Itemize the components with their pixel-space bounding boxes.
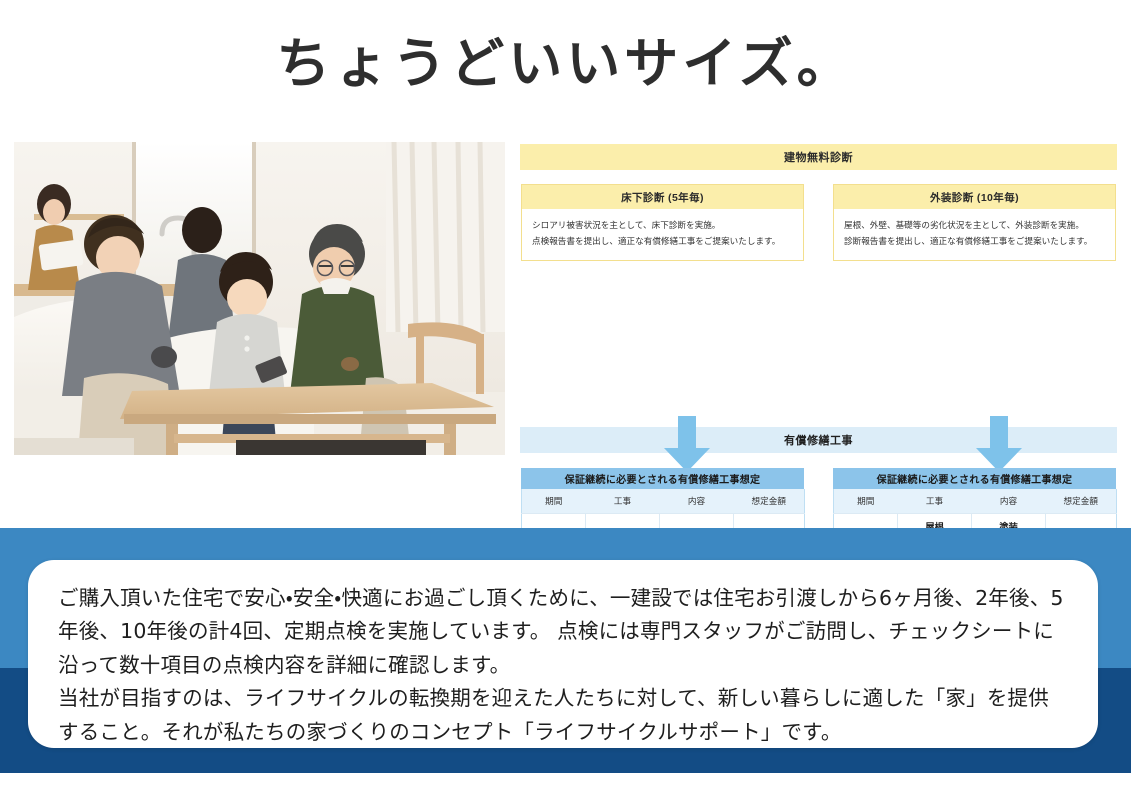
col-work: 工事 xyxy=(898,489,972,514)
col-work: 工事 xyxy=(586,489,660,514)
page-title: ちょうどいいサイズ。 xyxy=(0,32,1131,97)
floor-inspection-line-2: 点検報告書を提出し、適正な有償修繕工事をご提案いたします。 xyxy=(532,234,793,250)
col-period: 期間 xyxy=(522,489,586,514)
band-white-bottom xyxy=(0,773,1131,800)
exterior-inspection-line-2: 診断報告書を提出し、適正な有償修繕工事をご提案いたします。 xyxy=(844,234,1105,250)
col-amount: 想定金額 xyxy=(734,489,805,514)
estimate-table-left-header: 保証継続に必要とされる有償修繕工事想定 xyxy=(521,468,804,489)
down-arrow-icon-left xyxy=(664,416,710,472)
lifecycle-support-text: ご購入頂いた住宅で安心・安全・快適にお過ごし頂くために、一建設では住宅お引渡しか… xyxy=(58,582,1068,749)
table-header-row: 期間 工事 内容 想定金額 xyxy=(522,489,805,514)
estimate-table-right-header: 保証継続に必要とされる有償修繕工事想定 xyxy=(833,468,1116,489)
floor-inspection-header: 床下診断 (5年毎) xyxy=(522,185,803,209)
col-detail: 内容 xyxy=(972,489,1046,514)
diagram-top-band: 建物無料診断 xyxy=(520,144,1117,170)
exterior-inspection-line-1: 屋根、外壁、基礎等の劣化状況を主として、外装診断を実施。 xyxy=(844,218,1105,234)
lifecycle-support-card: ご購入頂いた住宅で安心・安全・快適にお過ごし頂くために、一建設では住宅お引渡しか… xyxy=(28,560,1098,748)
exterior-inspection-box: 外装診断 (10年毎) 屋根、外壁、基礎等の劣化状況を主として、外装診断を実施。… xyxy=(833,184,1116,261)
col-period: 期間 xyxy=(834,489,898,514)
family-living-room-photo xyxy=(14,142,505,455)
diagram-middle-band: 有償修繕工事 xyxy=(520,427,1117,453)
diagram-column-floor-inspection: 床下診断 (5年毎) シロアリ被害状況を主として、床下診断を実施。 点検報告書を… xyxy=(521,184,804,261)
exterior-inspection-body: 屋根、外壁、基礎等の劣化状況を主として、外装診断を実施。 診断報告書を提出し、適… xyxy=(834,209,1115,260)
floor-inspection-body: シロアリ被害状況を主として、床下診断を実施。 点検報告書を提出し、適正な有償修繕… xyxy=(522,209,803,260)
col-amount: 想定金額 xyxy=(1046,489,1117,514)
floor-inspection-box: 床下診断 (5年毎) シロアリ被害状況を主として、床下診断を実施。 点検報告書を… xyxy=(521,184,804,261)
exterior-inspection-header: 外装診断 (10年毎) xyxy=(834,185,1115,209)
down-arrow-icon-right xyxy=(976,416,1022,472)
diagram-column-exterior-inspection: 外装診断 (10年毎) 屋根、外壁、基礎等の劣化状況を主として、外装診断を実施。… xyxy=(833,184,1116,261)
table-header-row: 期間 工事 内容 想定金額 xyxy=(834,489,1117,514)
floor-inspection-line-1: シロアリ被害状況を主として、床下診断を実施。 xyxy=(532,218,793,234)
page-root: ちょうどいいサイズ。 xyxy=(0,0,1131,800)
maintenance-diagram: 建物無料診断 床下診断 (5年毎) シロアリ被害状況を主として、床下診断を実施。… xyxy=(520,144,1117,469)
col-detail: 内容 xyxy=(660,489,734,514)
